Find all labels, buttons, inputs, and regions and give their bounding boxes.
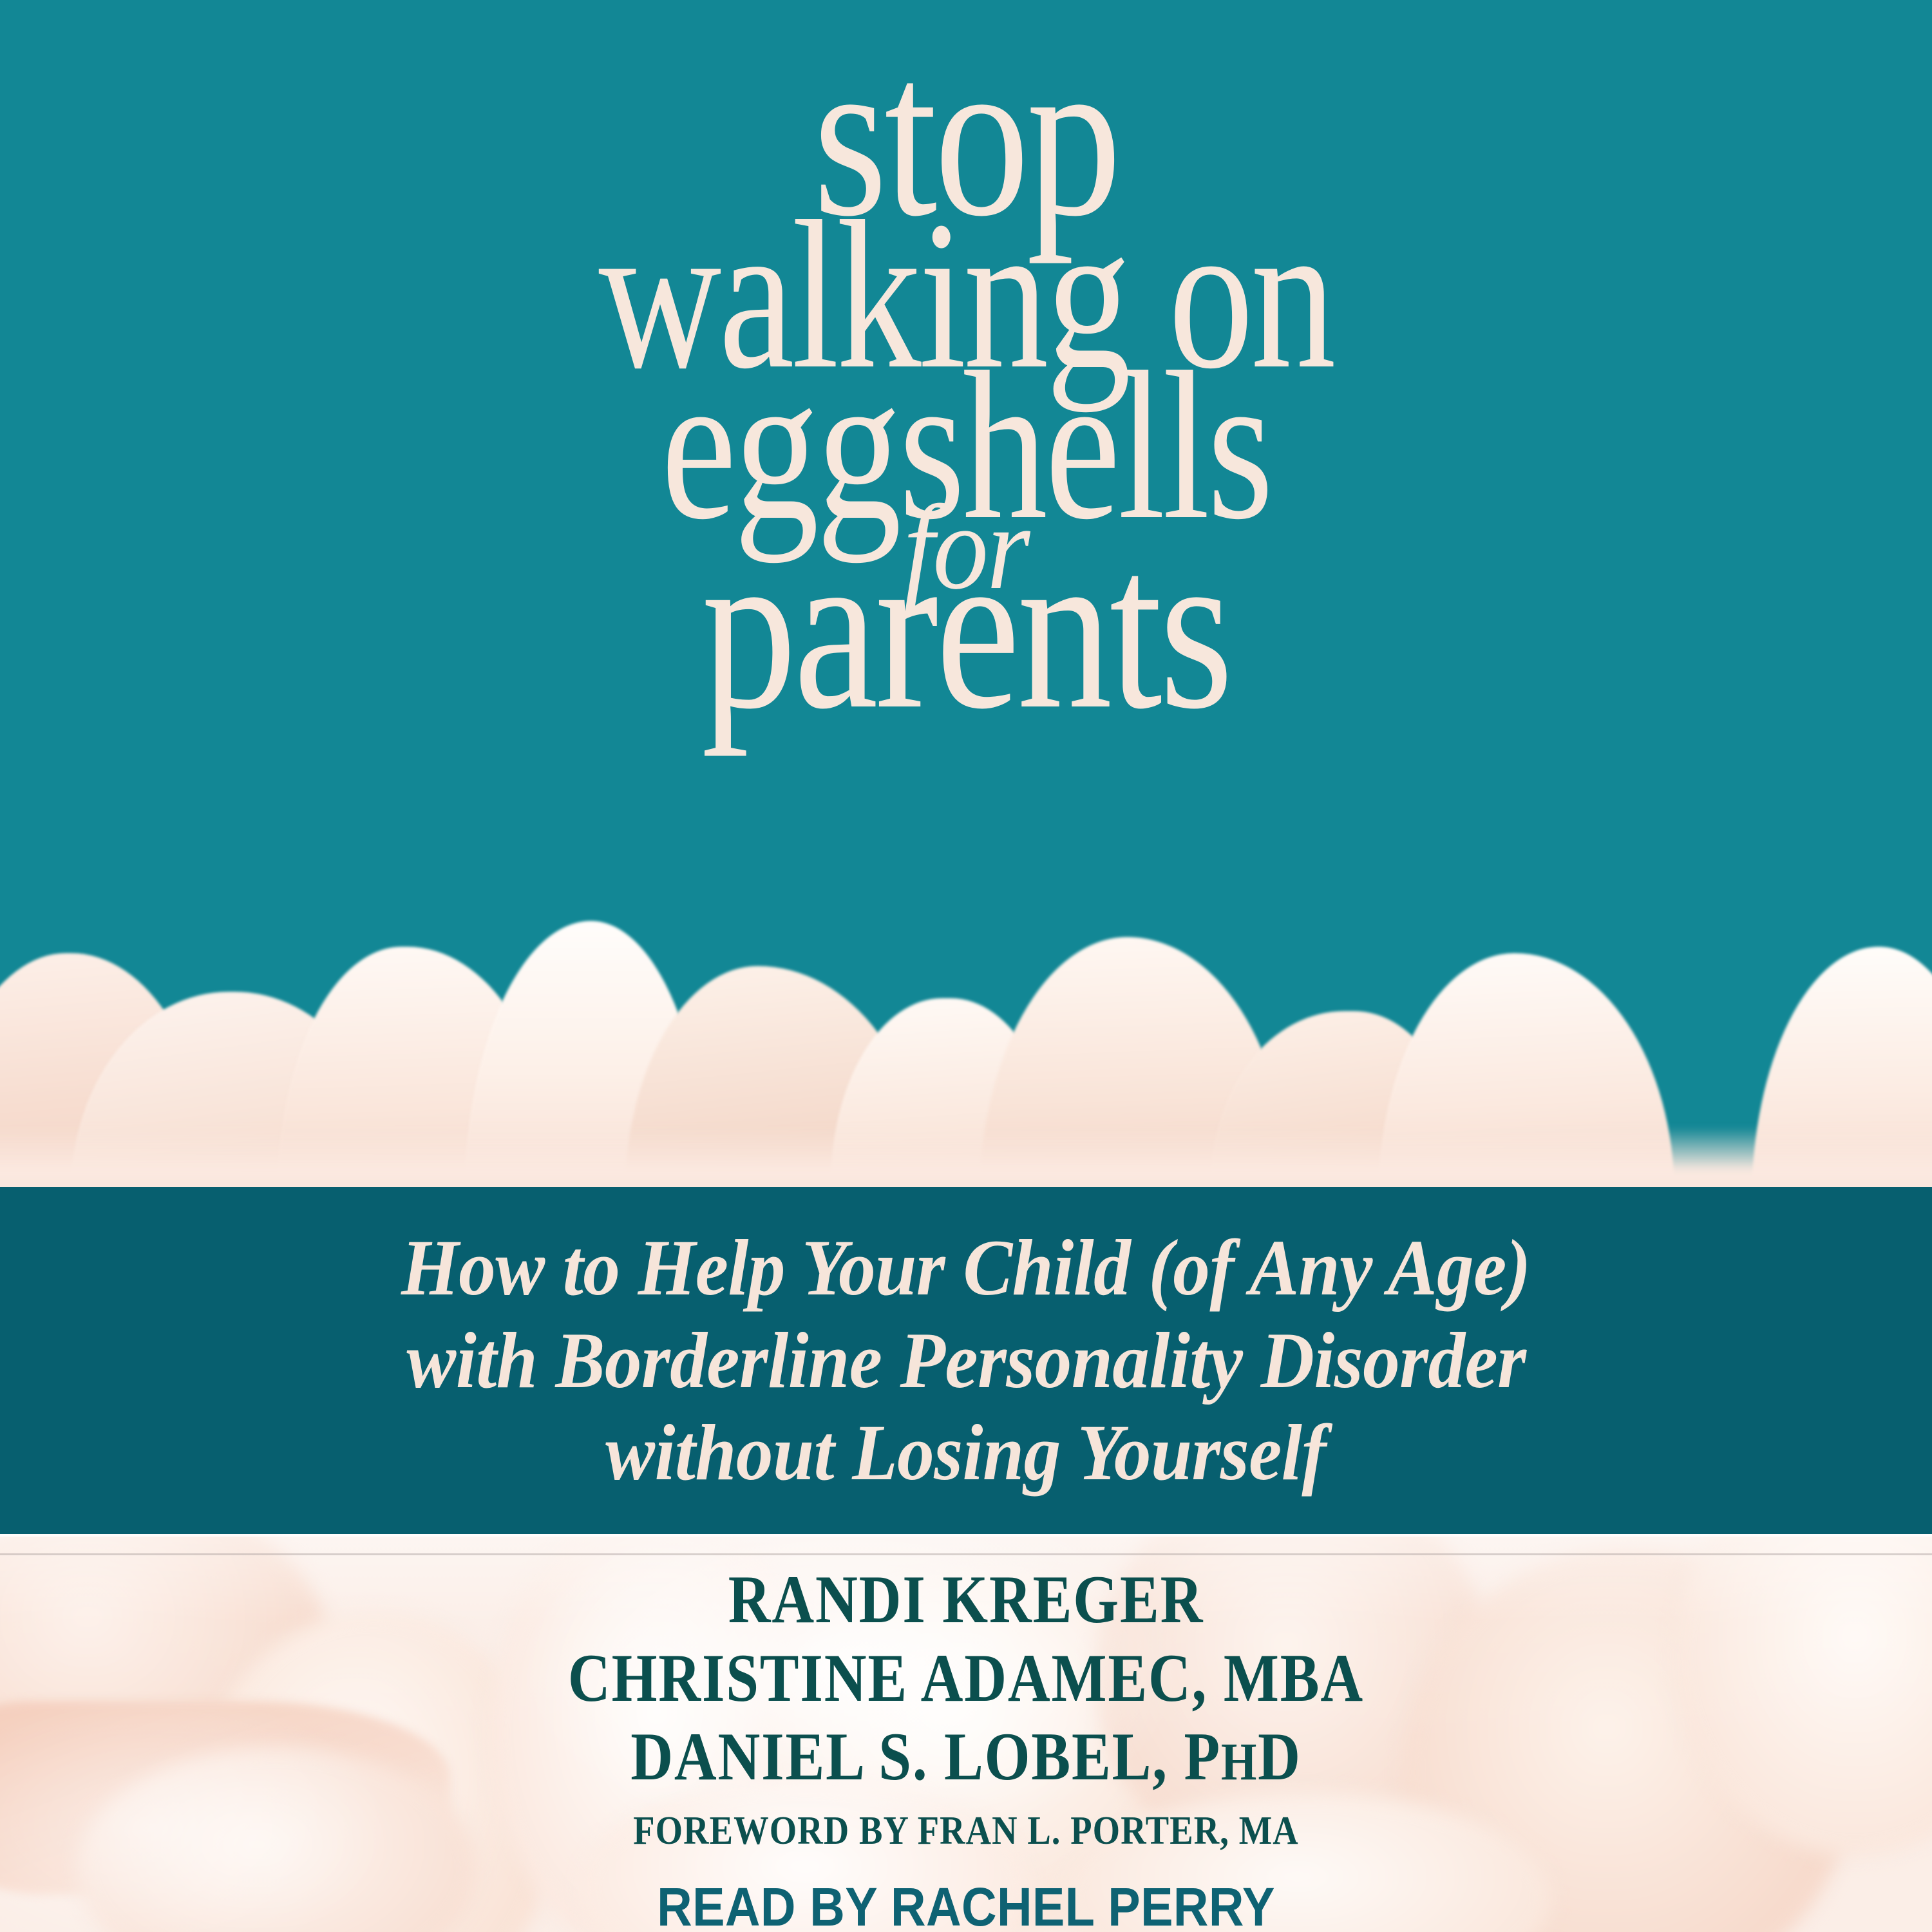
eggshell-pile-illustration xyxy=(0,889,1932,1198)
subtitle-line-1: How to Help Your Child (of Any Age) xyxy=(401,1222,1531,1314)
credits-block: RANDI KREGER CHRISTINE ADAMEC, MBA DANIE… xyxy=(0,1565,1932,1932)
subtitle-line-3: without Losing Yourself xyxy=(606,1406,1327,1499)
title-block: stop walking on eggshells for parents xyxy=(0,0,1932,726)
author-2-name: CHRISTINE ADAMEC, xyxy=(568,1640,1224,1716)
subtitle-line-2: with Borderline Personality Disorder xyxy=(406,1314,1526,1407)
band-divider-grey xyxy=(0,1553,1932,1555)
foreword-credit: FOREWORD BY FRAN L. PORTER, MA xyxy=(116,1808,1816,1854)
author-name-1: RANDI KREGER xyxy=(135,1565,1797,1634)
author-name-2: CHRISTINE ADAMEC, MBA xyxy=(135,1643,1797,1713)
book-cover: stop walking on eggshells for parents Ho… xyxy=(0,0,1932,1932)
author-name-3: DANIEL S. LOBEL, PHD xyxy=(135,1722,1797,1792)
narrator-credit: READ BY RACHEL PERRY xyxy=(97,1876,1835,1932)
author-3-suffix-p: P xyxy=(1184,1719,1222,1794)
author-3-name: DANIEL S. LOBEL, xyxy=(630,1719,1184,1794)
title-line-parents: parents xyxy=(174,531,1758,726)
subtitle-band: How to Help Your Child (of Any Age) with… xyxy=(0,1187,1932,1534)
author-2-suffix: MBA xyxy=(1224,1640,1364,1716)
band-divider-light xyxy=(0,1534,1932,1537)
author-3-suffix-h: H xyxy=(1221,1732,1258,1791)
author-3-suffix-d: D xyxy=(1258,1719,1302,1794)
